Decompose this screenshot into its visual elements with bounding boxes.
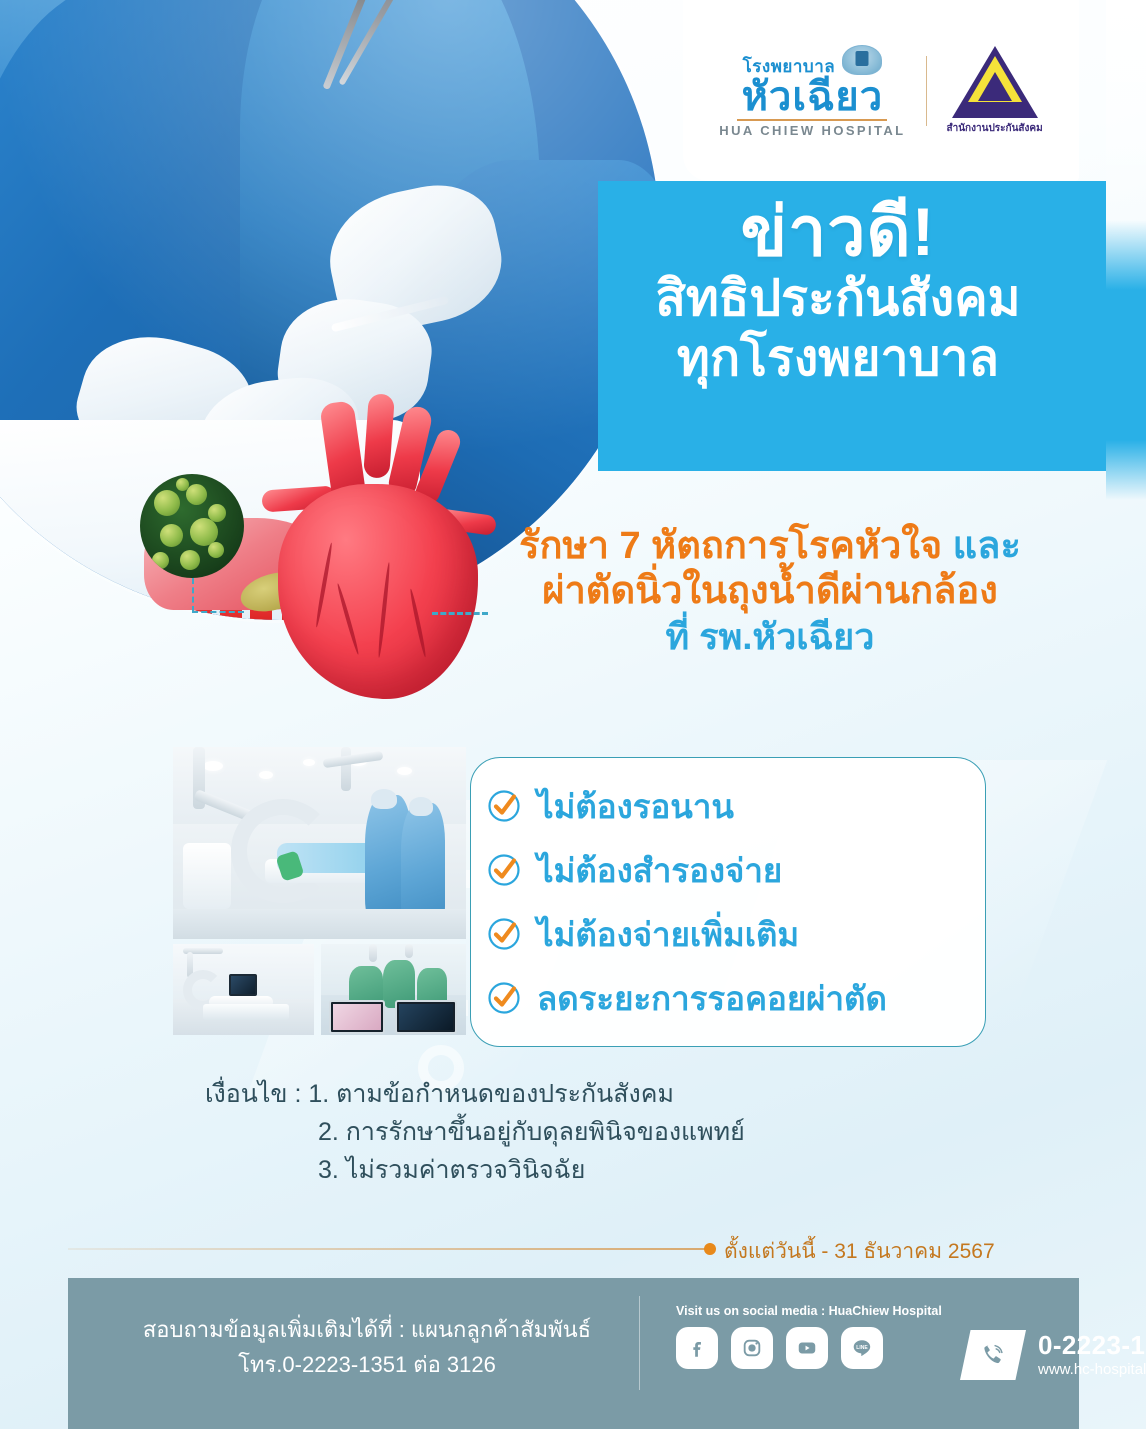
anatomical-heart-illustration — [278, 484, 478, 699]
subheading-line-2: ผ่าตัดนิ่วในถุงน้ำดีผ่านกล้อง — [470, 569, 1070, 614]
promo-period-text: ตั้งแต่วันนี้ - 31 ธันวาคม 2567 — [724, 1235, 995, 1268]
condition-line-3: 3. ไม่รวมค่าตรวจวินิจฉัย — [205, 1151, 905, 1189]
footer-bar: สอบถามข้อมูลเพิ่มเติมได้ที่ : แผนกลูกค้า… — [68, 1278, 1079, 1429]
social-security-office-logo: สำนักงานประกันสังคม — [947, 46, 1043, 136]
benefit-label: ไม่ต้องสำรองจ่าย — [537, 844, 782, 897]
footer-phone-text: 0-2223-1351 www.hc-hospital.com — [1038, 1331, 1146, 1379]
subheading-line-1-blue: และ — [953, 525, 1021, 567]
phone-call-icon — [960, 1330, 1026, 1380]
cath-lab-procedure-photo — [173, 747, 466, 939]
footer-contact-line-1: สอบถามข้อมูลเพิ่มเติมได้ที่ : แผนกลูกค้า… — [102, 1312, 632, 1347]
operating-room-monitors-photo — [321, 944, 466, 1035]
headline-line-1: ข่าวดี! — [598, 197, 1078, 268]
benefit-item: ไม่ต้องจ่ายเพิ่มเติม — [487, 902, 985, 966]
headline-line-2: สิทธิประกันสังคม — [598, 268, 1078, 328]
logo-thai-small: โรงพยาบาล — [743, 58, 836, 75]
sso-triangle-icon — [952, 46, 1038, 118]
conditions-list: เงื่อนไข : 1. ตามข้อกำหนดของประกันสังคม … — [205, 1075, 905, 1189]
footer-contact-line-2: โทร.0-2223-1351 ต่อ 3126 — [102, 1347, 632, 1382]
subheading-line-3: ที่ รพ.หัวเฉียว — [470, 616, 1070, 658]
social-media-label: Visit us on social media : HuaChiew Hosp… — [676, 1304, 942, 1318]
benefit-label: ไม่ต้องรอนาน — [537, 780, 734, 833]
condition-line-2: 2. การรักษาขึ้นอยู่กับดุลยพินิจของแพทย์ — [205, 1113, 905, 1151]
hospital-crest-icon — [842, 45, 882, 75]
footer-divider — [639, 1296, 640, 1390]
condition-line-1: เงื่อนไข : 1. ตามข้อกำหนดของประกันสังคม — [205, 1075, 905, 1113]
hospital-logo: โรงพยาบาล หัวเฉียว HUA CHIEW HOSPITAL — [719, 45, 905, 137]
check-circle-icon — [487, 981, 521, 1015]
benefit-label: ลดระยะการรอคอยผ่าตัด — [537, 972, 887, 1025]
angiography-suite-photo — [173, 944, 314, 1035]
benefit-item: ไม่ต้องรอนาน — [487, 774, 985, 838]
line-icon[interactable]: LINE — [841, 1327, 883, 1369]
youtube-icon[interactable] — [786, 1327, 828, 1369]
footer-contact-block: สอบถามข้อมูลเพิ่มเติมได้ที่ : แผนกลูกค้า… — [102, 1312, 632, 1382]
headline-line-3: ทุกโรงพยาบาล — [598, 328, 1078, 388]
promo-period-rule — [68, 1248, 710, 1250]
organ-illustration — [130, 392, 500, 732]
poster-root: โรงพยาบาล หัวเฉียว HUA CHIEW HOSPITAL สำ… — [0, 0, 1146, 1429]
logo-underline — [737, 119, 887, 121]
benefit-label: ไม่ต้องจ่ายเพิ่มเติม — [537, 908, 799, 961]
promo-period-dot — [704, 1243, 716, 1255]
logo-english-name: HUA CHIEW HOSPITAL — [719, 124, 905, 137]
benefits-card: ไม่ต้องรอนาน ไม่ต้องสำรองจ่าย ไม่ต้องจ่า… — [470, 757, 986, 1047]
instagram-icon[interactable] — [731, 1327, 773, 1369]
footer-social-block: Visit us on social media : HuaChiew Hosp… — [676, 1304, 942, 1369]
check-circle-icon — [487, 853, 521, 887]
benefit-item: ไม่ต้องสำรองจ่าย — [487, 838, 985, 902]
headline-band: ข่าวดี! สิทธิประกันสังคม ทุกโรงพยาบาล — [598, 181, 1106, 471]
logo-panel: โรงพยาบาล หัวเฉียว HUA CHIEW HOSPITAL สำ… — [683, 0, 1079, 181]
check-circle-icon — [487, 917, 521, 951]
logo-thai-large: หัวเฉียว — [742, 77, 884, 117]
check-circle-icon — [487, 789, 521, 823]
subheading: รักษา 7 หัตถการโรคหัวใจ และ ผ่าตัดนิ่วใน… — [470, 524, 1070, 658]
sso-caption: สำนักงานประกันสังคม — [947, 121, 1043, 136]
logo-divider — [926, 56, 927, 126]
social-icon-row: LINE — [676, 1327, 942, 1369]
benefit-item: ลดระยะการรอคอยผ่าตัด — [487, 966, 985, 1030]
footer-phone-number: 0-2223-1351 — [1038, 1330, 1146, 1360]
svg-text:LINE: LINE — [856, 1345, 868, 1351]
footer-website: www.hc-hospital.com — [1038, 1361, 1146, 1378]
gallstones-magnified-circle — [140, 474, 244, 578]
subheading-line-1-orange: รักษา 7 หัตถการโรคหัวใจ — [519, 525, 942, 567]
facebook-icon[interactable] — [676, 1327, 718, 1369]
photo-cluster — [173, 747, 466, 1035]
right-cyan-edge-strip — [1106, 0, 1146, 500]
footer-phone-block: 0-2223-1351 www.hc-hospital.com — [960, 1330, 1146, 1380]
